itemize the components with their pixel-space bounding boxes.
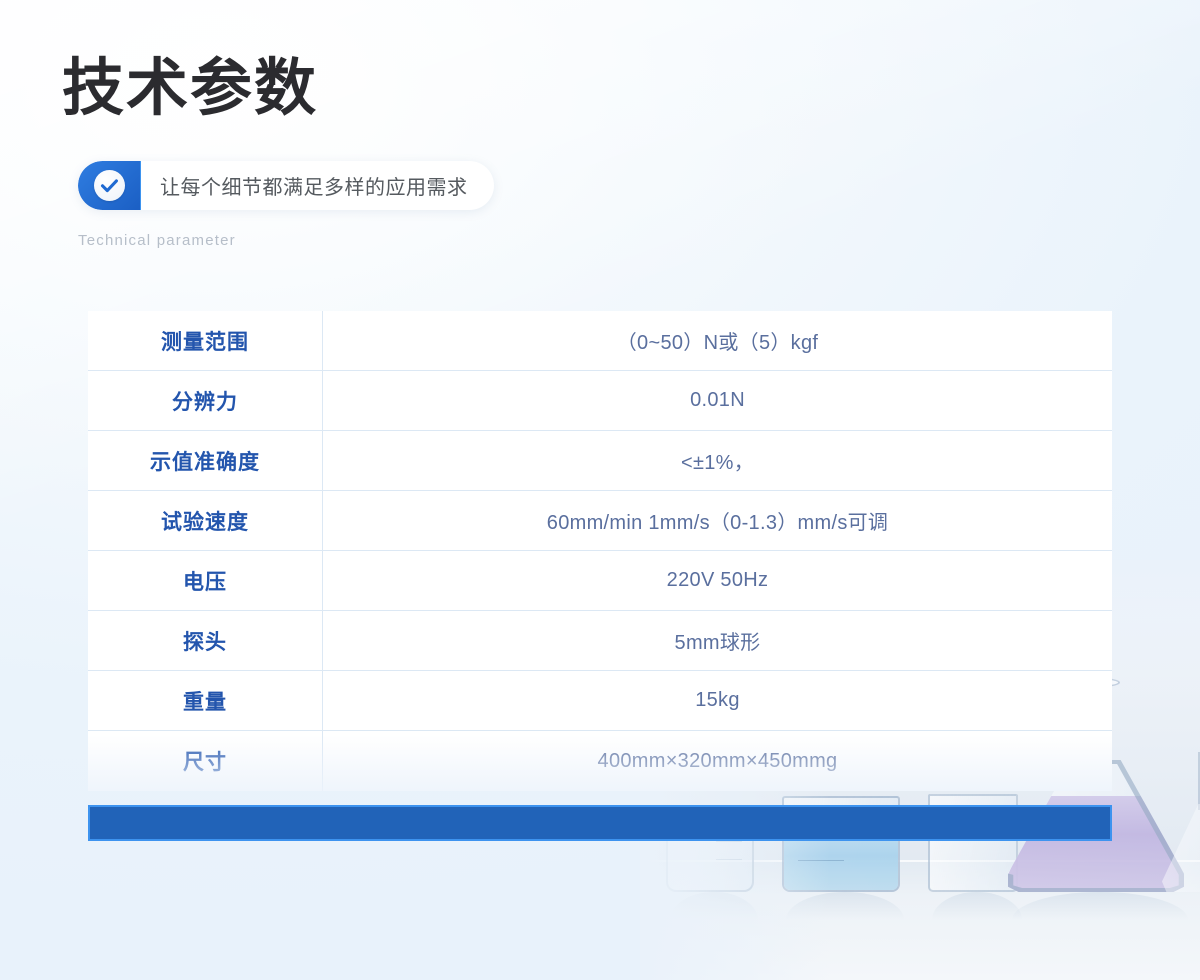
table-row: 分辨力0.01N — [88, 371, 1112, 431]
erlenmeyer-flask-small-icon — [1162, 752, 1200, 892]
table-row: 重量15kg — [88, 671, 1112, 731]
spec-label: 试验速度 — [88, 491, 323, 550]
spec-value: 5mm球形 — [323, 611, 1112, 670]
spec-label: 探头 — [88, 611, 323, 670]
table-row: 测量范围（0~50）N或（5）kgf — [88, 311, 1112, 371]
spec-label: 示值准确度 — [88, 431, 323, 490]
tagline-pill: 让每个细节都满足多样的应用需求 — [78, 161, 494, 210]
tagline-badge — [78, 161, 140, 210]
spec-value: （0~50）N或（5）kgf — [323, 311, 1112, 370]
page-title: 技术参数 — [62, 52, 318, 124]
spec-value: 60mm/min 1mm/s（0-1.3）mm/s可调 — [323, 491, 1112, 550]
spec-label: 尺寸 — [88, 731, 323, 791]
bottom-accent-bar — [88, 805, 1112, 841]
table-row: 示值准确度<±1%， — [88, 431, 1112, 491]
spec-value: 0.01N — [323, 371, 1112, 430]
subtitle-english: Technical parameter — [78, 232, 236, 249]
spec-table: 测量范围（0~50）N或（5）kgf分辨力0.01N示值准确度<±1%，试验速度… — [88, 311, 1112, 791]
spec-value: 400mm×320mm×450mmg — [323, 731, 1112, 791]
table-row: 探头5mm球形 — [88, 611, 1112, 671]
table-row: 电压220V 50Hz — [88, 551, 1112, 611]
spec-value: <±1%， — [323, 431, 1112, 490]
table-row: 试验速度60mm/min 1mm/s（0-1.3）mm/s可调 — [88, 491, 1112, 551]
spec-label: 分辨力 — [88, 371, 323, 430]
spec-value: 220V 50Hz — [323, 551, 1112, 610]
spec-label: 重量 — [88, 671, 323, 730]
tagline-text: 让每个细节都满足多样的应用需求 — [140, 171, 468, 200]
check-circle-icon — [94, 170, 125, 201]
spec-label: 测量范围 — [88, 311, 323, 370]
spec-value: 15kg — [323, 671, 1112, 730]
spec-label: 电压 — [88, 551, 323, 610]
table-row: 尺寸400mm×320mm×450mmg — [88, 731, 1112, 791]
